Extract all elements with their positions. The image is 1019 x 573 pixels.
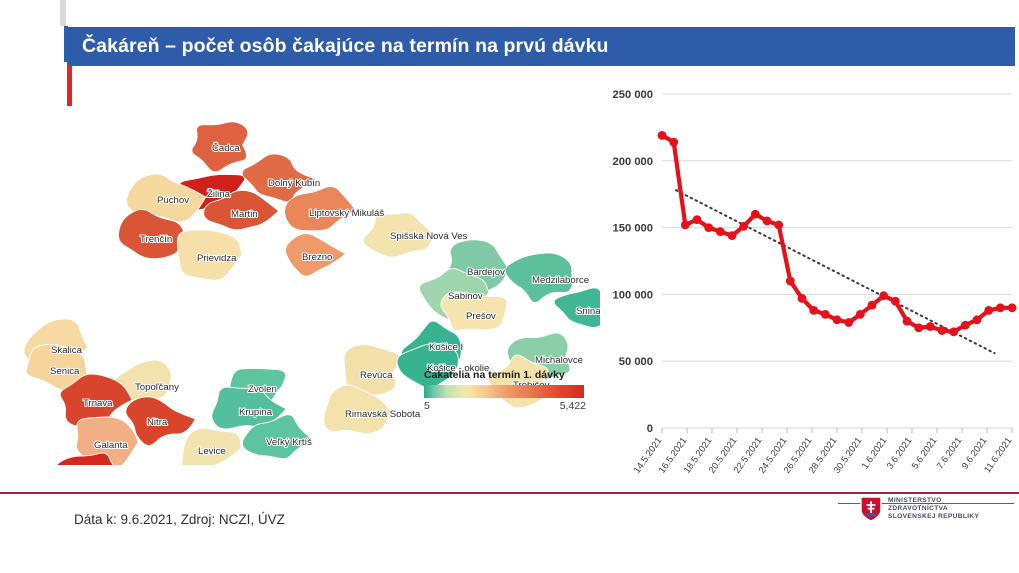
chart-data-point [658, 131, 667, 140]
chart-data-point [751, 210, 760, 219]
chart-data-point [1008, 303, 1017, 312]
map-region-label: Trnava [83, 398, 113, 409]
chart-data-point [844, 318, 853, 327]
legend-scale: 5 5,422 [424, 400, 586, 412]
chart-data-points [658, 131, 1017, 336]
map-region-label: Spišská Nová Ves [390, 231, 468, 242]
chart-data-point [938, 326, 947, 335]
chart-trend-line [676, 190, 995, 353]
chart-data-point [728, 231, 737, 240]
chart-data-point [973, 315, 982, 324]
map-region-label: Veľký Krtíš [266, 437, 312, 448]
chart-data-point [809, 306, 818, 315]
chart-y-tick-label: 200 000 [613, 156, 653, 168]
legend-min-label: 5 [424, 400, 430, 412]
chart-data-point [914, 323, 923, 332]
chart-data-point [868, 301, 877, 310]
map-legend: Čakatelia na termín 1. dávky 5 5,422 [424, 369, 586, 412]
chart-data-point [856, 310, 865, 319]
chart-panel: 250 000200 000150 000100 00050 0000 14.5… [600, 80, 1019, 490]
legend-max-label: 5,422 [560, 400, 586, 412]
chart-data-point [891, 297, 900, 306]
map-region-label: Brezno [302, 252, 332, 263]
chart-series-line [662, 135, 1012, 331]
map-region-shapes [24, 122, 600, 465]
chart-data-point [681, 221, 690, 230]
chart-data-point [669, 138, 678, 147]
chart-y-tick-label: 250 000 [613, 89, 653, 101]
ministry-name: MINISTERSTVO ZDRAVOTNÍCTVA SLOVENSKEJ RE… [888, 497, 979, 520]
chart-data-point [996, 303, 1005, 312]
chart-data-point [949, 327, 958, 336]
map-region-label: Rimavská Sobota [345, 409, 421, 420]
chart-y-tick-label: 0 [647, 423, 653, 435]
map-region-label: Košice I [429, 342, 463, 353]
map-region-label: Snina [576, 306, 600, 317]
ministry-logo: MINISTERSTVO ZDRAVOTNÍCTVA SLOVENSKEJ RE… [860, 489, 1010, 529]
map-region-label: Prievidza [197, 253, 237, 264]
page-title: Čakáreň – počet osôb čakajúce na termín … [68, 35, 609, 58]
chart-x-axis-labels: 14.5.202116.5.202118.5.202120.5.202122.5… [632, 428, 1014, 475]
map-region-label: Púchov [157, 195, 189, 206]
waiting-list-line-chart[interactable]: 250 000200 000150 000100 00050 0000 14.5… [600, 80, 1019, 490]
slovak-coat-of-arms-icon [860, 496, 882, 522]
map-region-label: Topoľčany [135, 382, 179, 393]
chart-y-tick-label: 150 000 [613, 223, 653, 235]
map-region-label: Zvolen [248, 384, 277, 395]
chart-data-point [984, 306, 993, 315]
map-region-label: Galanta [94, 440, 128, 451]
accent-bar-gray [60, 0, 66, 26]
chart-data-point [961, 321, 970, 330]
legend-title: Čakatelia na termín 1. dávky [424, 369, 586, 381]
map-region-label: Revúca [360, 370, 393, 381]
ministry-line-1: MINISTERSTVO [888, 497, 979, 505]
chart-data-point [879, 291, 888, 300]
chart-data-point [704, 223, 713, 232]
chart-data-point [798, 294, 807, 303]
map-region-label: Sabinov [448, 291, 483, 302]
chart-gridlines [662, 94, 1012, 428]
map-region-label: Senica [50, 366, 80, 377]
chart-data-point [774, 221, 783, 230]
map-region-label: Michalovce [535, 355, 583, 366]
map-region-label: Krupina [239, 407, 273, 418]
map-region-label: Martin [231, 209, 258, 220]
chart-trendline [676, 190, 995, 353]
chart-data-point [833, 315, 842, 324]
data-source-note: Dáta k: 9.6.2021, Zdroj: NCZI, ÚVZ [74, 512, 285, 527]
map-region-label: Nitra [147, 417, 168, 428]
map-region-label: Žilina [207, 189, 231, 200]
ministry-line-2: ZDRAVOTNÍCTVA [888, 505, 979, 513]
map-region-label: Bardejov [467, 267, 505, 278]
chart-data-point [763, 217, 772, 226]
chart-data-point [821, 310, 830, 319]
map-region-label: Liptovský Mikuláš [309, 208, 384, 219]
map-region-label: Dolný Kubín [268, 178, 320, 189]
map-region-label: Levice [198, 446, 226, 457]
chart-y-tick-label: 50 000 [619, 356, 653, 368]
chart-data-point [693, 215, 702, 224]
map-region-label: Čadca [212, 143, 240, 154]
chart-data-point [786, 277, 795, 286]
title-banner: Čakáreň – počet osôb čakajúce na termín … [68, 27, 1015, 66]
map-region-label: Medzilaborce [532, 275, 589, 286]
chart-data-point [903, 317, 912, 326]
chart-data-point [926, 322, 935, 331]
map-region-label: Skalica [51, 345, 83, 356]
chart-y-axis-labels: 250 000200 000150 000100 00050 0000 [613, 89, 653, 435]
map-region-label: Trenčín [140, 234, 172, 245]
chart-line [662, 135, 1012, 331]
ministry-line-3: SLOVENSKEJ REPUBLIKY [888, 513, 979, 521]
chart-data-point [716, 227, 725, 236]
chart-y-tick-label: 100 000 [613, 289, 653, 301]
legend-gradient-bar [424, 385, 584, 398]
map-region-label: Prešov [466, 311, 496, 322]
chart-data-point [739, 222, 748, 231]
